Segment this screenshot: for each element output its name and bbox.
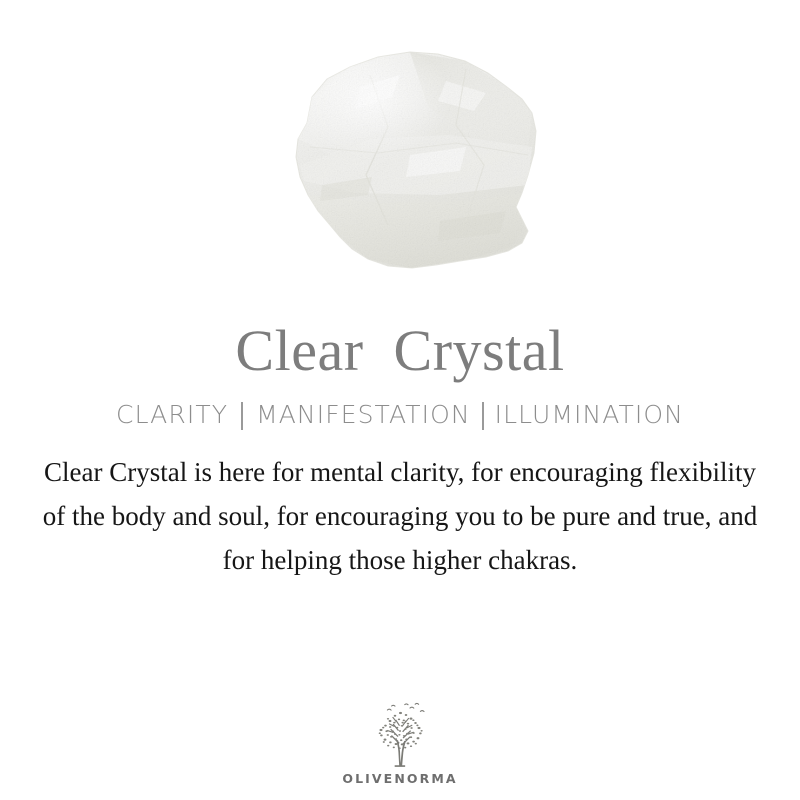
brand-logo: OLIVENORMA: [0, 700, 800, 786]
keyword-manifestation: MANIFESTATION: [254, 400, 473, 430]
birds-icon: [387, 703, 424, 711]
tree-foliage: [379, 712, 423, 749]
clear-crystal-stone-icon: [260, 35, 560, 285]
keyword-clarity: CLARITY: [114, 400, 230, 430]
clear-crystal-image: [260, 35, 560, 285]
product-description: Clear Crystal is here for mental clarity…: [30, 450, 770, 582]
keyword-illumination: ILLUMINATION: [493, 400, 686, 430]
product-info-card: Clear Crystal CLARITY MANIFESTATION ILLU…: [0, 0, 800, 800]
page-title: Clear Crystal: [235, 320, 564, 382]
keyword-separator-icon: [241, 402, 243, 430]
olive-tree-icon: [357, 700, 443, 770]
product-image-area: [0, 0, 800, 320]
brand-name: OLIVENORMA: [342, 771, 457, 786]
keyword-separator-icon: [482, 402, 484, 430]
keyword-list: CLARITY MANIFESTATION ILLUMINATION: [114, 400, 686, 430]
